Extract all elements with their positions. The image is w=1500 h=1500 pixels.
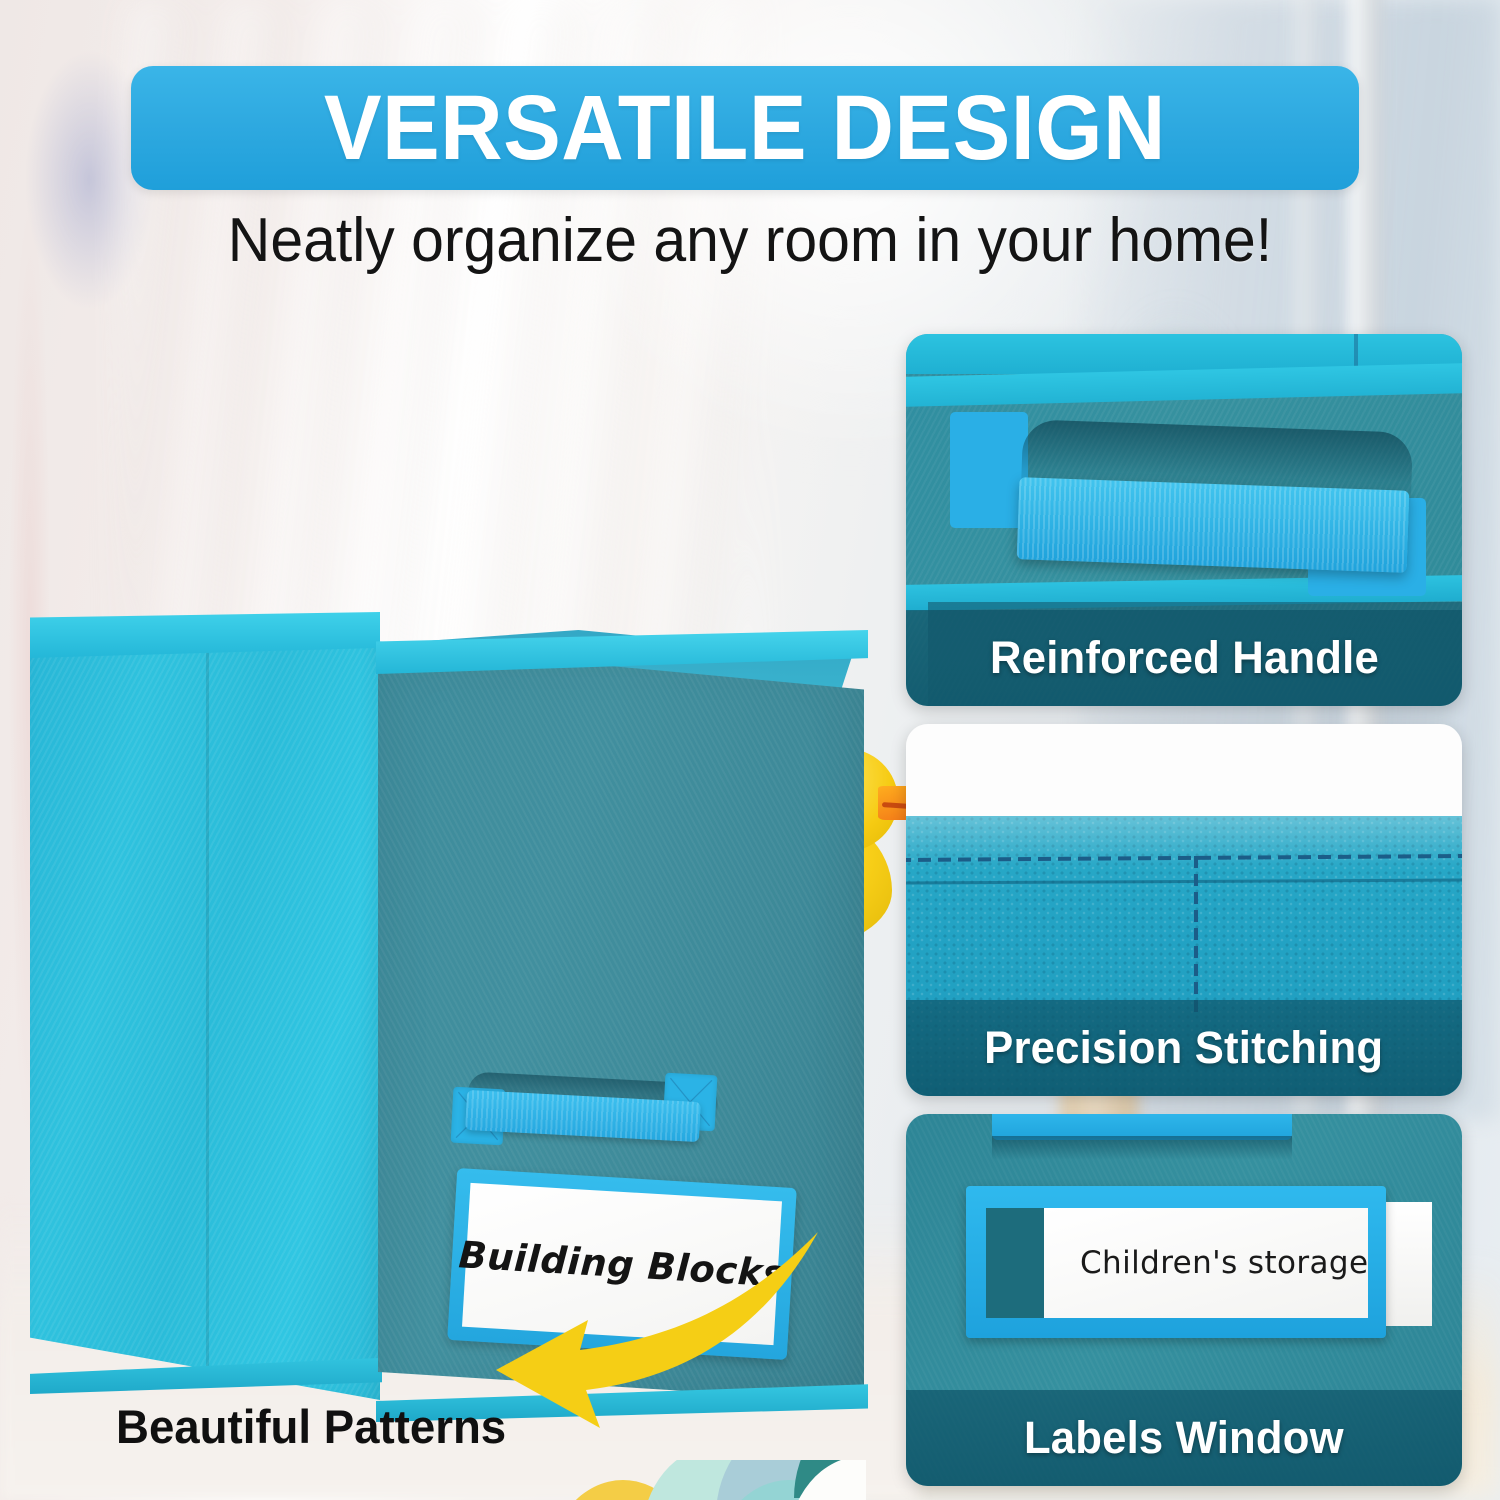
feature-caption-label: Reinforced Handle [990, 632, 1379, 684]
scallop-pattern-band [380, 1460, 866, 1500]
labels-photo-strap-shadow [992, 1136, 1292, 1160]
feature-panel-reinforced-handle: Reinforced Handle [906, 334, 1462, 706]
callout-label: Beautiful Patterns [116, 1399, 506, 1454]
infographic-canvas: VERSATILE DESIGN Neatly organize any roo… [0, 0, 1500, 1500]
feature-panel-labels-window: Children's storage box Labels Window [906, 1114, 1462, 1486]
callout-beautiful-patterns: Beautiful Patterns [110, 1396, 510, 1456]
feature-caption-label: Precision Stitching [984, 1022, 1383, 1074]
side-seam [206, 620, 209, 1400]
header-banner: VERSATILE DESIGN [131, 66, 1359, 190]
stitch-photo-background [906, 724, 1462, 820]
storage-box-side-panel [30, 620, 380, 1400]
feature-caption-bar: Precision Stitching [906, 1000, 1462, 1096]
feature-caption-bar: Reinforced Handle [906, 610, 1462, 706]
page-title: VERSATILE DESIGN [324, 82, 1166, 174]
feature-caption-label: Labels Window [1024, 1412, 1344, 1464]
labels-photo-insert-card: Children's storage box [1044, 1208, 1368, 1318]
labels-photo-window-opening: Children's storage box [986, 1208, 1368, 1318]
side-fabric-texture [30, 620, 380, 1400]
feature-caption-bar: Labels Window [906, 1390, 1462, 1486]
labels-photo-window-frame: Children's storage box [966, 1186, 1386, 1338]
arrow-left-icon [488, 1222, 888, 1452]
callout-arrow-wrap [488, 1222, 888, 1452]
handle-photo-webbing [1017, 477, 1410, 573]
handle-photo-strap [1017, 477, 1410, 573]
feature-panel-precision-stitching: Precision Stitching [906, 724, 1462, 1096]
stitch-line-vertical [1194, 856, 1198, 1014]
handle-photo-tab-left [950, 412, 1028, 528]
labels-photo-card-text: Children's storage box [1044, 1245, 1368, 1281]
page-subtitle: Neatly organize any room in your home! [38, 205, 1463, 277]
